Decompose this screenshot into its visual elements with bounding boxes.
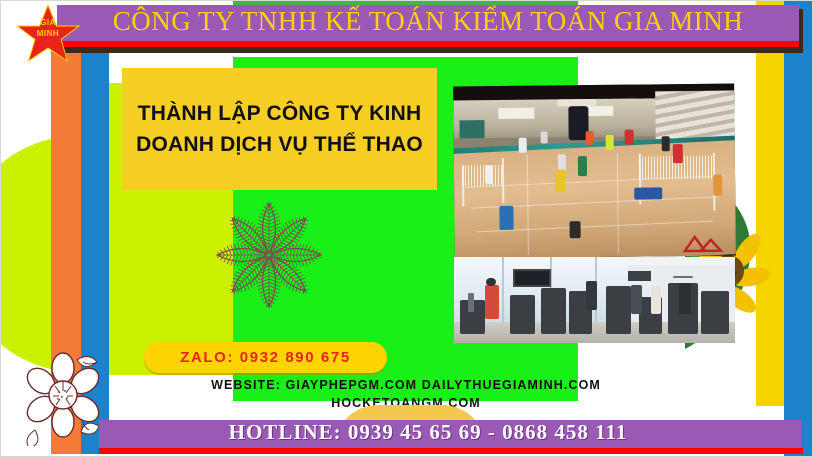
page-title: CÔNG TY TNHH KẾ TOÁN KIỂM TOÁN GIA MINH — [113, 8, 744, 35]
website-text-1: WEBSITE: GIAYPHEPGM.COM DAILYTHUEGIAMINH… — [211, 378, 601, 392]
headline-line-1: THÀNH LẬP CÔNG TY KINH — [138, 98, 422, 129]
footer-bar: HOTLINE: 0939 45 65 69 - 0868 458 111 — [99, 420, 757, 454]
blue-stripe-right-decoration — [784, 1, 813, 457]
gym-photo — [454, 257, 735, 343]
leaf-rosette-ornament — [194, 189, 344, 321]
gia-minh-star-logo[interactable]: GIA MINH — [15, 3, 81, 65]
header-bar: CÔNG TY TNHH KẾ TOÁN KIỂM TOÁN GIA MINH — [57, 5, 799, 47]
zalo-label: ZALO: 0932 890 675 — [180, 349, 351, 366]
footer-red-right-cap — [757, 448, 803, 454]
zalo-contact-button[interactable]: ZALO: 0932 890 675 — [144, 342, 387, 373]
hotline-text: HOTLINE: 0939 45 65 69 - 0868 458 111 — [229, 422, 628, 443]
flyer-canvas: CÔNG TY TNHH KẾ TOÁN KIỂM TOÁN GIA MINH … — [0, 0, 813, 457]
star-icon — [15, 3, 81, 65]
sports-hall-photo — [453, 84, 736, 259]
line-flower-ornament — [15, 346, 111, 446]
website-line-1: WEBSITE: GIAYPHEPGM.COM DAILYTHUEGIAMINH… — [121, 376, 691, 393]
headline-line-2: DOANH DỊCH VỤ THỂ THAO — [136, 129, 423, 160]
headline-card: THÀNH LẬP CÔNG TY KINH DOANH DỊCH VỤ THỂ… — [122, 68, 437, 190]
